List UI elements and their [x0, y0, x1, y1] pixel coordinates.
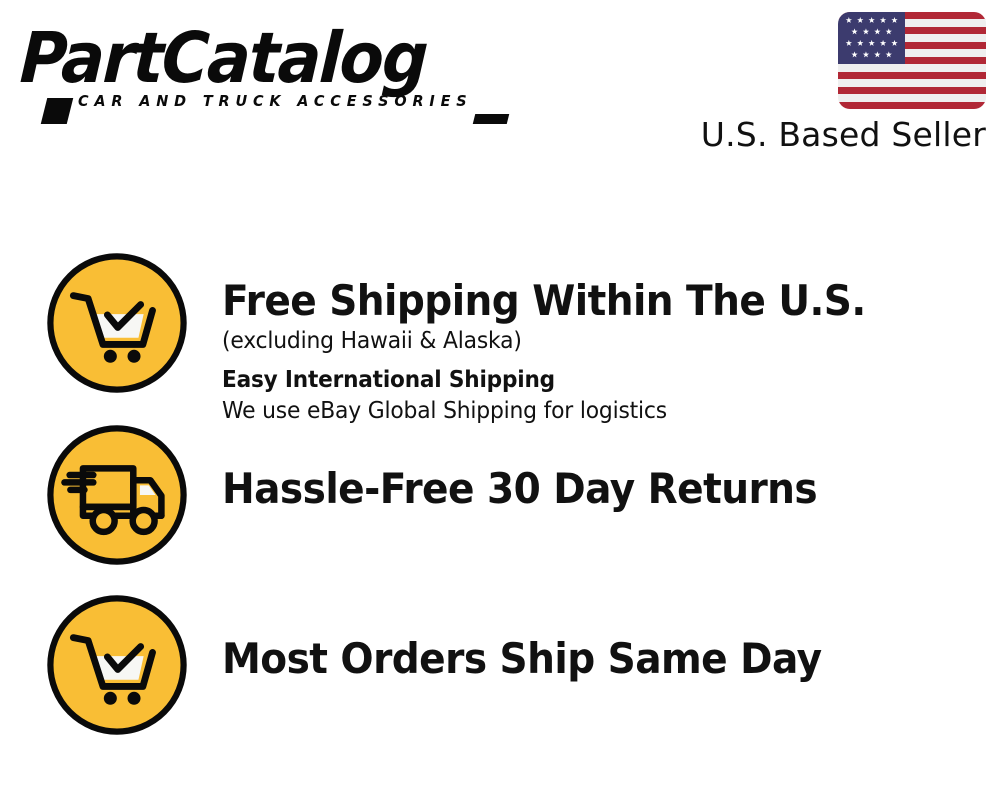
flag-star-icon: [891, 40, 897, 46]
feature-text-block: Hassle-Free 30 Day Returns: [222, 464, 982, 514]
cart-wheel: [128, 692, 141, 705]
feature-subheading: Easy International Shipping: [222, 364, 936, 396]
flag-star-icon: [874, 51, 880, 57]
flag-star-icon: [851, 51, 857, 57]
flag-stars-icon: [838, 12, 905, 64]
page-header: PartCatalog CAR AND TRUCK ACCESSORIES U.…: [0, 0, 1000, 170]
spacer: [222, 356, 982, 364]
flag-star-icon: [857, 40, 863, 46]
feature-heading: Most Orders Ship Same Day: [222, 634, 929, 684]
delivery-truck-icon: [43, 421, 191, 569]
flag-star-icon: [846, 17, 852, 23]
feature-heading: Free Shipping Within The U.S.: [222, 276, 929, 326]
flag-star-icon: [846, 40, 852, 46]
logo-swash-left-icon: [41, 98, 73, 124]
brand-tagline: CAR AND TRUCK ACCESSORIES: [78, 92, 473, 110]
feature-row: Most Orders Ship Same Day: [0, 591, 1000, 763]
feature-heading: Hassle-Free 30 Day Returns: [222, 464, 929, 514]
cart-wheel: [104, 350, 117, 363]
flag-star-icon: [891, 17, 897, 23]
flag-star-icon: [857, 17, 863, 23]
flag-star-icon: [851, 28, 857, 34]
feature-row: Free Shipping Within The U.S. (excluding…: [0, 249, 1000, 421]
feature-row: Hassle-Free 30 Day Returns: [0, 421, 1000, 593]
flag-star-icon: [874, 28, 880, 34]
logo-swash-right-icon: [473, 114, 509, 124]
flag-star-icon: [880, 40, 886, 46]
flag-star-icon: [886, 28, 892, 34]
flag-star-icon: [863, 51, 869, 57]
feature-note: (excluding Hawaii & Alaska): [222, 326, 944, 356]
us-flag-icon: [838, 12, 986, 109]
feature-text-block: Most Orders Ship Same Day: [222, 634, 982, 684]
shopping-cart-check-icon: [43, 591, 191, 739]
flag-star-icon: [863, 28, 869, 34]
cart-wheel: [128, 350, 141, 363]
brand-logo[interactable]: PartCatalog CAR AND TRUCK ACCESSORIES: [22, 22, 492, 114]
flag-stripe: [838, 102, 986, 109]
shopping-cart-check-icon: [43, 249, 191, 397]
truck-wheel: [133, 510, 155, 532]
cart-wheel: [104, 692, 117, 705]
flag-star-icon: [880, 17, 886, 23]
feature-text-block: Free Shipping Within The U.S. (excluding…: [222, 276, 982, 427]
flag-star-icon: [886, 51, 892, 57]
flag-star-icon: [869, 40, 875, 46]
flag-star-icon: [869, 17, 875, 23]
us-based-seller-label: U.S. Based Seller: [701, 116, 986, 154]
brand-wordmark: PartCatalog: [19, 22, 455, 94]
truck-wheel: [93, 510, 115, 532]
